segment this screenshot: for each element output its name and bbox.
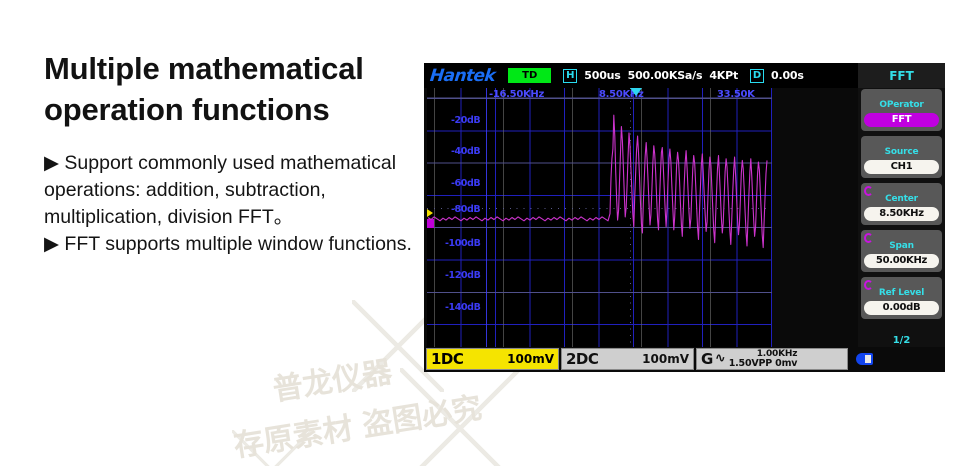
- knob-icon: [864, 233, 873, 243]
- scope-bottom-status-bar: 1DC 100mV 2DC 100mV G ∿ 1.00KHz 1.50VPP …: [424, 347, 945, 372]
- feature-bullet-1: ▶ Support commonly used mathematical ope…: [44, 150, 414, 230]
- generator-values: 1.00KHz 1.50VPP 0mv: [729, 349, 798, 369]
- feature-bullet-2: ▶ FFT supports multiple window functions…: [44, 231, 414, 258]
- page-title: Multiple mathematical operation function…: [44, 48, 414, 130]
- menu-item-operator[interactable]: OPerator FFT: [861, 89, 942, 131]
- watermark-notice: 存原素材 盗图必究: [230, 383, 484, 466]
- trigger-status-badge[interactable]: TD: [508, 68, 551, 83]
- menu-value-ref-level[interactable]: 0.00dB: [864, 301, 939, 315]
- menu-value-span[interactable]: 50.00KHz: [864, 254, 939, 268]
- menu-label-span: Span: [889, 241, 914, 251]
- generator-amplitude-offset: 1.50VPP 0mv: [729, 359, 798, 369]
- menu-label-source: Source: [885, 147, 919, 157]
- channel-2-status[interactable]: 2DC 100mV: [561, 348, 694, 370]
- memory-depth-value: 4KPt: [709, 69, 738, 82]
- menu-label-center: Center: [885, 194, 918, 204]
- delay-icon: D: [750, 69, 764, 83]
- promo-page: Multiple mathematical operation function…: [0, 0, 960, 466]
- menu-label-ref-level: Ref Level: [879, 288, 924, 298]
- menu-item-source[interactable]: Source CH1: [861, 136, 942, 178]
- fft-plot-area[interactable]: -16.50KHz 8.50KHz 33.50K -20dB -40dB -60…: [427, 88, 772, 347]
- menu-value-operator[interactable]: FFT: [864, 113, 939, 127]
- channel-1-scale: 100mV: [507, 352, 554, 366]
- fft-menu-panel: OPerator FFT Source CH1 Center 8.50KHz S…: [858, 88, 945, 347]
- hantek-logo: Hantek: [429, 66, 496, 86]
- channel-2-label: 2DC: [566, 350, 598, 368]
- fft-waveform-trace: [427, 88, 772, 347]
- sine-wave-icon: ∿: [715, 354, 726, 364]
- horizontal-icon: H: [563, 69, 577, 83]
- generator-status[interactable]: G ∿ 1.00KHz 1.50VPP 0mv: [696, 348, 848, 370]
- timebase-value[interactable]: 500us: [584, 69, 620, 82]
- knob-icon: [864, 280, 873, 290]
- channel-1-label: 1DC: [431, 350, 463, 368]
- generator-amplitude: 1.50VPP: [729, 358, 772, 369]
- menu-value-center[interactable]: 8.50KHz: [864, 207, 939, 221]
- channel-2-scale: 100mV: [642, 352, 689, 366]
- menu-item-span[interactable]: Span 50.00KHz: [861, 230, 942, 272]
- sample-rate-value: 500.00KSa/s: [628, 69, 703, 82]
- delay-value[interactable]: 0.00s: [771, 69, 804, 82]
- feature-description: ▶ Support commonly used mathematical ope…: [44, 150, 414, 257]
- usb-status-zone: [850, 348, 944, 370]
- generator-label: G: [701, 350, 713, 368]
- knob-icon: [864, 186, 873, 196]
- marketing-copy: Multiple mathematical operation function…: [44, 48, 414, 257]
- menu-item-center[interactable]: Center 8.50KHz: [861, 183, 942, 225]
- mode-title: FFT: [858, 63, 945, 88]
- generator-offset: 0mv: [775, 358, 797, 369]
- menu-item-ref-level[interactable]: Ref Level 0.00dB: [861, 277, 942, 319]
- watermark-chevron-icon: [232, 430, 312, 466]
- menu-value-source[interactable]: CH1: [864, 160, 939, 174]
- channel-1-status[interactable]: 1DC 100mV: [426, 348, 559, 370]
- oscilloscope-screen: Hantek TD H 500us 500.00KSa/s 4KPt D 0.0…: [424, 63, 945, 372]
- watermark-chevron-icon: [400, 368, 520, 466]
- menu-label-operator: OPerator: [879, 100, 923, 110]
- usb-icon: [856, 353, 873, 365]
- menu-page-indicator[interactable]: 1/2: [858, 335, 945, 346]
- watermark-brand: 普龙仪器: [269, 347, 394, 409]
